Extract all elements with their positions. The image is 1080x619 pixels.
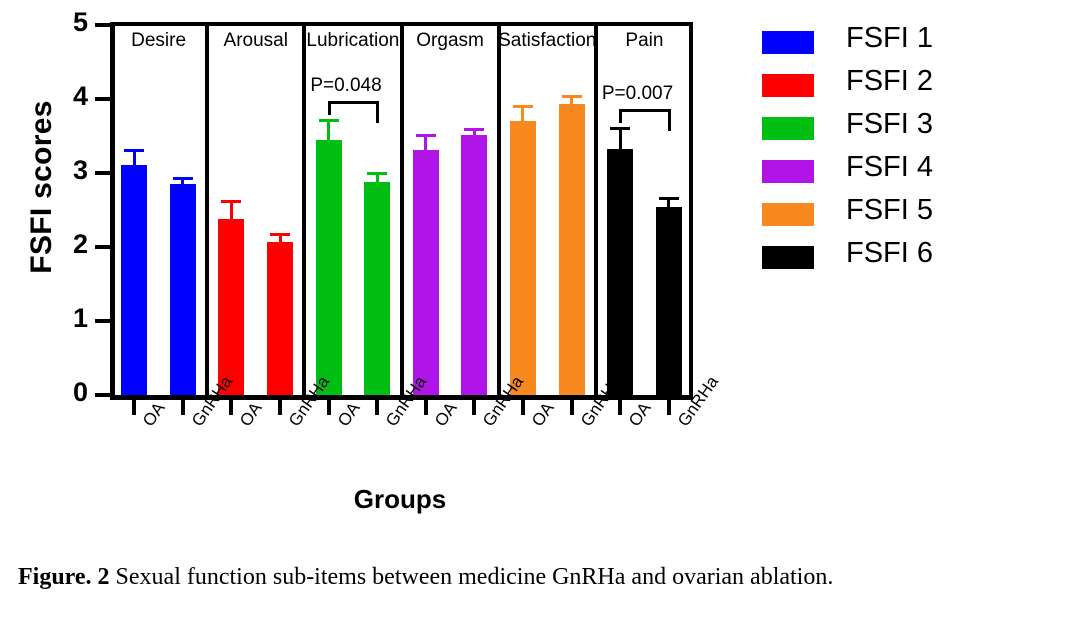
x-tick-mark	[521, 400, 525, 415]
legend-item-3[interactable]: FSFI 3	[762, 108, 1062, 151]
bar-satisfaction-oa	[510, 121, 536, 395]
y-tick-mark	[95, 245, 112, 249]
y-tick-mark	[95, 319, 112, 323]
error-bar-cap	[221, 200, 241, 203]
x-tick-mark	[181, 400, 185, 415]
error-bar-cap	[562, 95, 582, 98]
error-bar-cap	[367, 172, 387, 175]
y-tick-mark	[95, 97, 112, 101]
legend-swatch-2	[762, 74, 814, 97]
y-tick-label: 5	[48, 7, 88, 38]
figure-root: FSFI scores 543210 DesireArousalLubricat…	[0, 0, 1080, 619]
chart-legend: FSFI 1FSFI 2FSFI 3FSFI 4FSFI 5FSFI 6	[762, 22, 1062, 280]
bar-satisfaction-gnrha	[559, 104, 585, 395]
bar-arousal-oa	[218, 219, 244, 395]
error-bar-cap	[270, 233, 290, 236]
error-bar-cap	[610, 127, 630, 130]
panel-divider	[497, 22, 501, 400]
panel-divider	[302, 22, 306, 400]
legend-swatch-1	[762, 31, 814, 54]
y-tick-mark	[95, 23, 112, 27]
x-axis-title: Groups	[260, 484, 540, 515]
legend-swatch-6	[762, 246, 814, 269]
chart-figure: FSFI scores 543210 DesireArousalLubricat…	[0, 0, 1080, 545]
legend-swatch-3	[762, 117, 814, 140]
x-tick-label-oa: OA	[236, 399, 266, 431]
x-tick-label-oa: OA	[431, 399, 461, 431]
y-tick-label: 2	[48, 229, 88, 260]
panel-divider	[594, 22, 598, 400]
x-tick-mark	[618, 400, 622, 415]
y-tick-label: 3	[48, 155, 88, 186]
legend-label-1: FSFI 1	[846, 22, 933, 55]
legend-item-4[interactable]: FSFI 4	[762, 151, 1062, 194]
error-bar-cap	[173, 177, 193, 180]
panel-divider	[205, 22, 209, 400]
error-bar-cap	[659, 197, 679, 200]
legend-label-5: FSFI 5	[846, 194, 933, 227]
x-tick-mark	[667, 400, 671, 415]
y-tick-label: 0	[48, 377, 88, 408]
y-axis-line	[110, 22, 115, 400]
caption-text: Sexual function sub-items between medici…	[110, 564, 834, 590]
panel-label-pain: Pain	[584, 30, 705, 52]
significance-bracket-tick	[328, 101, 331, 115]
y-tick-label: 1	[48, 303, 88, 334]
significance-bracket-tick	[376, 101, 379, 123]
bar-desire-gnrha	[170, 184, 196, 395]
bar-pain-oa	[607, 149, 633, 395]
x-tick-label-oa: OA	[139, 399, 169, 431]
error-bar-cap	[319, 119, 339, 122]
legend-label-4: FSFI 4	[846, 151, 933, 184]
significance-bracket-horizontal	[329, 101, 378, 104]
x-tick-label-oa: OA	[528, 399, 558, 431]
legend-label-2: FSFI 2	[846, 65, 933, 98]
y-tick-mark	[95, 171, 112, 175]
error-bar-stem	[327, 119, 330, 140]
x-tick-label-oa: OA	[625, 399, 655, 431]
x-tick-mark	[278, 400, 282, 415]
legend-label-3: FSFI 3	[846, 108, 933, 141]
significance-bracket-tick	[668, 109, 671, 131]
error-bar-stem	[619, 127, 622, 149]
x-tick-label-oa: OA	[334, 399, 364, 431]
legend-item-6[interactable]: FSFI 6	[762, 237, 1062, 280]
bar-pain-gnrha	[656, 207, 682, 395]
bar-desire-oa	[121, 165, 147, 395]
error-bar-cap	[124, 149, 144, 152]
y-tick-label: 4	[48, 81, 88, 112]
significance-bracket-horizontal	[620, 109, 669, 112]
panel-divider	[400, 22, 404, 400]
x-tick-mark	[229, 400, 233, 415]
x-tick-mark	[375, 400, 379, 415]
x-tick-mark	[570, 400, 574, 415]
bar-orgasm-gnrha	[461, 135, 487, 395]
bar-lubrication-oa	[316, 140, 342, 395]
bar-orgasm-oa	[413, 150, 439, 395]
p-value-label: P=0.007	[602, 83, 673, 105]
significance-bracket-tick	[619, 109, 622, 123]
plot-right-border	[689, 22, 693, 400]
x-tick-mark	[327, 400, 331, 415]
legend-item-1[interactable]: FSFI 1	[762, 22, 1062, 65]
legend-label-6: FSFI 6	[846, 237, 933, 270]
legend-item-5[interactable]: FSFI 5	[762, 194, 1062, 237]
y-tick-mark	[95, 393, 112, 397]
error-bar-cap	[464, 128, 484, 131]
x-tick-mark	[424, 400, 428, 415]
p-value-label: P=0.048	[310, 75, 381, 97]
figure-caption: Figure. 2 Sexual function sub-items betw…	[18, 564, 1066, 591]
legend-swatch-5	[762, 203, 814, 226]
error-bar-cap	[416, 134, 436, 137]
bar-arousal-gnrha	[267, 242, 293, 395]
x-tick-mark	[472, 400, 476, 415]
legend-swatch-4	[762, 160, 814, 183]
error-bar-cap	[513, 105, 533, 108]
x-tick-mark	[132, 400, 136, 415]
caption-prefix: Figure. 2	[18, 564, 110, 590]
bar-lubrication-gnrha	[364, 182, 390, 395]
legend-item-2[interactable]: FSFI 2	[762, 65, 1062, 108]
